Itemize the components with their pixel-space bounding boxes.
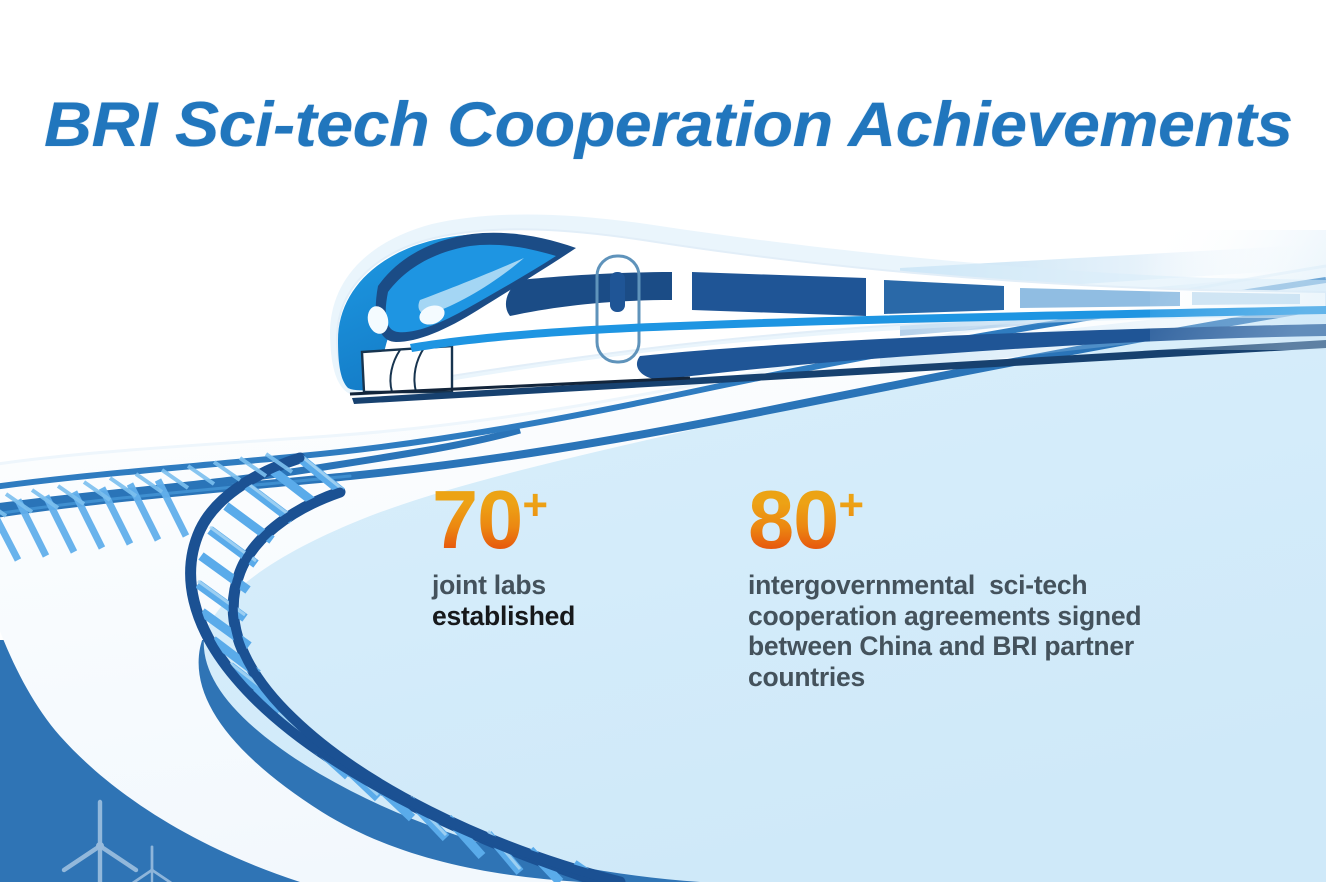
wind-turbine-icon (64, 802, 171, 882)
high-speed-train-icon (330, 214, 1326, 404)
motion-trail (880, 244, 1326, 372)
page-title: BRI Sci-tech Cooperation Achievements (44, 88, 1326, 162)
stat-block-joint-labs: 70+ joint labs established (432, 478, 732, 631)
stat-number-text: 70 (432, 473, 522, 566)
stat-label-line-1: joint labs (432, 570, 546, 600)
stat-label-agreements: intergovernmental sci-tech cooperation a… (748, 570, 1228, 692)
stat-value-80: 80+ (748, 478, 864, 562)
infographic-poster: BRI Sci-tech Cooperation Achievements 70… (0, 0, 1326, 882)
stat-label-line-2: established (432, 601, 732, 632)
stat-label-joint-labs: joint labs established (432, 570, 732, 631)
stat-number-text: 80 (748, 473, 838, 566)
stat-plus-suffix: + (522, 480, 548, 529)
stat-block-agreements: 80+ intergovernmental sci-tech cooperati… (748, 478, 1228, 692)
stat-plus-suffix: + (838, 480, 864, 529)
stat-value-70: 70+ (432, 478, 548, 562)
